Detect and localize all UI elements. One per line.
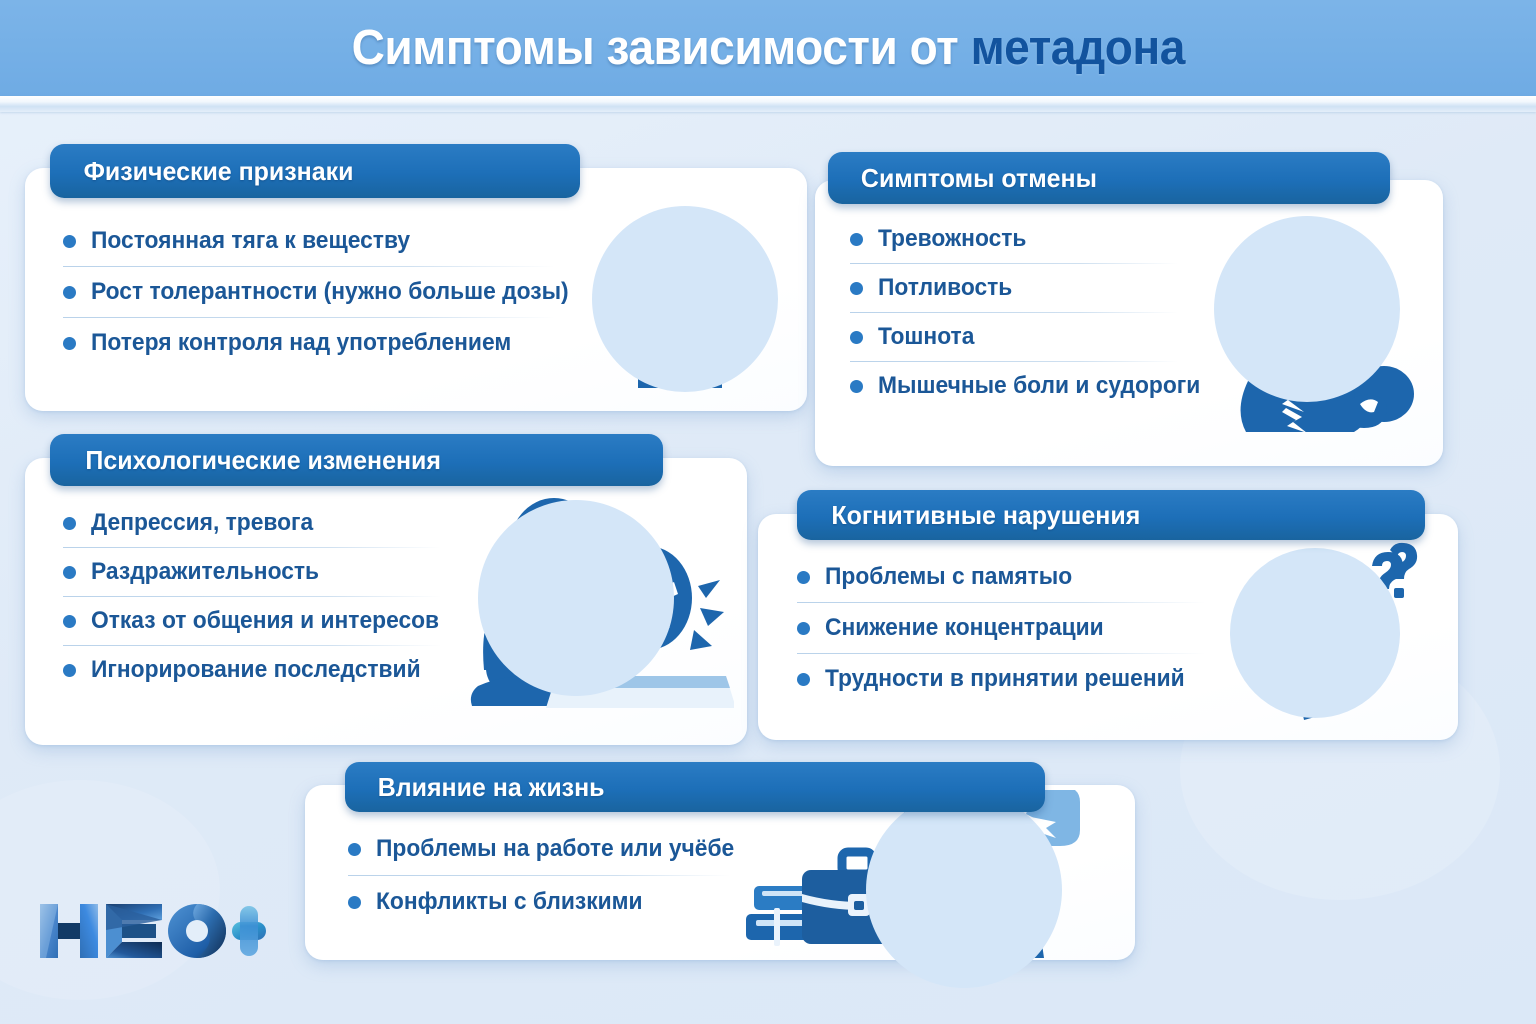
bullet-dot (797, 571, 810, 584)
header-divider (0, 96, 1536, 112)
bullet-dot (348, 843, 361, 856)
bullet-dot (797, 622, 810, 635)
card-title-label: Когнитивные нарушения (831, 500, 1140, 531)
list-separator (797, 602, 1205, 603)
list-item: Снижение концентрации (825, 614, 1104, 642)
bullet-dot (63, 517, 76, 530)
bullet-dot (797, 673, 810, 686)
bullet-dot (850, 331, 863, 344)
list-item: Мышечные боли и судороги (878, 372, 1200, 400)
list-item: Рост толерантности (нужно больше дозы) (91, 278, 569, 306)
bullet-list-life-impact: Проблемы на работе или учёбе Конфликты с… (348, 828, 768, 923)
list-separator (63, 547, 441, 548)
list-item: Потливость (878, 274, 1012, 302)
bullet-dot (63, 615, 76, 628)
list-item: Конфликты с близкими (376, 888, 643, 916)
card-title-label: Симптомы отмены (861, 163, 1097, 194)
list-separator (797, 653, 1205, 654)
card-title-physical-signs: Физические признаки (50, 144, 580, 198)
bullet-dot (850, 233, 863, 246)
neo-plus-logo (36, 890, 266, 972)
page-header: Симптомы зависимости от метадона (0, 0, 1536, 96)
list-item: Игнорирование последствий (91, 656, 421, 684)
card-title-label: Физические признаки (84, 156, 354, 187)
page-title-accent: метадона (970, 21, 1184, 75)
card-title-label: Влияние на жизнь (378, 772, 605, 803)
bullet-dot (63, 566, 76, 579)
card-title-life-impact: Влияние на жизнь (345, 762, 1045, 812)
list-item: Постоянная тяга к веществу (91, 227, 410, 255)
bullet-list-physical-signs: Постоянная тяга к веществу Рост толерант… (63, 220, 563, 364)
page-title: Симптомы зависимости от метадона (351, 20, 1184, 76)
list-separator (63, 645, 441, 646)
page-title-main: Симптомы зависимости от (351, 21, 970, 75)
bullet-dot (63, 337, 76, 350)
stressed-person-with-syringe-icon (578, 198, 796, 398)
bullet-dot (850, 282, 863, 295)
sad-and-angry-faces-icon (448, 490, 734, 722)
list-separator (850, 263, 1178, 264)
bullet-list-cognitive-impairment: Проблемы с памятыо Снижение концентрации… (797, 556, 1237, 700)
sweating-person-with-cramps-icon (1208, 208, 1438, 444)
list-item: Депрессия, тревога (91, 509, 313, 537)
list-item: Проблемы с памятыо (825, 563, 1072, 591)
card-title-label: Психологические изменения (85, 445, 441, 476)
list-separator (63, 596, 441, 597)
bullet-dot (348, 896, 361, 909)
list-item: Потеря контроля над употреблением (91, 329, 511, 357)
bullet-dot (63, 664, 76, 677)
head-with-brain-question-marks-icon (1222, 542, 1422, 730)
list-item: Проблемы на работе или учёбе (376, 835, 734, 863)
list-item: Тошнота (878, 323, 974, 351)
list-item: Тревожность (878, 225, 1026, 253)
briefcase-books-people-arguing-icon (740, 790, 1110, 958)
list-item: Отказ от общения и интересов (91, 607, 439, 635)
card-title-withdrawal-symptoms: Симптомы отмены (828, 152, 1390, 204)
list-separator (348, 875, 730, 876)
list-separator (850, 312, 1178, 313)
card-title-psychological-changes: Психологические изменения (50, 434, 663, 486)
bullet-list-withdrawal-symptoms: Тревожность Потливость Тошнота Мышечные … (850, 218, 1230, 407)
list-item: Раздражительность (91, 558, 319, 586)
list-separator (850, 361, 1178, 362)
card-title-cognitive-impairment: Когнитивные нарушения (797, 490, 1425, 540)
bullet-list-psychological-changes: Депрессия, тревога Раздражительность Отк… (63, 502, 483, 691)
list-separator (63, 317, 555, 318)
bullet-dot (63, 286, 76, 299)
bullet-dot (850, 380, 863, 393)
infographic-canvas: Симптомы зависимости от метадона Физичес… (0, 0, 1536, 1024)
list-separator (63, 266, 555, 267)
list-item: Трудности в принятии решений (825, 665, 1185, 693)
bullet-dot (63, 235, 76, 248)
